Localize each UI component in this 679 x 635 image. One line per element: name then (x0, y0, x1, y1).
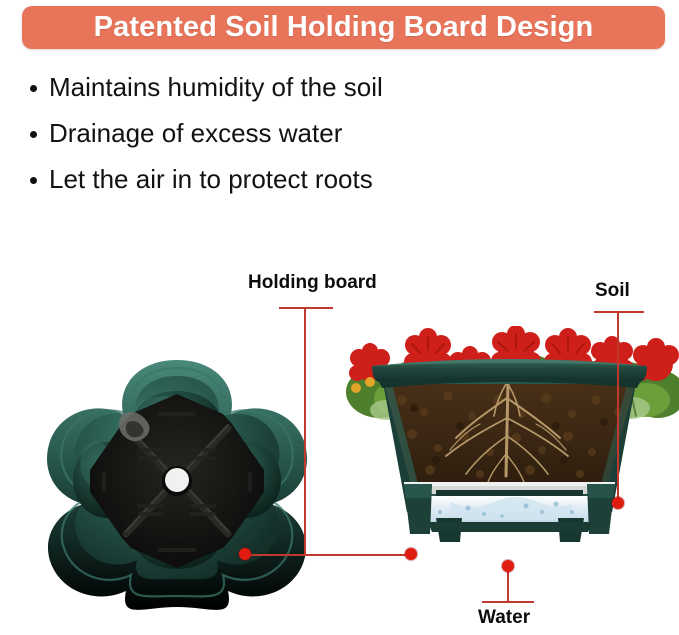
holding-board-anchor-dot-left (239, 548, 251, 560)
soil-leader-stem (617, 311, 619, 503)
infographic-canvas: Patented Soil Holding Board Design Maint… (0, 0, 679, 635)
list-item-label: Let the air in to protect roots (49, 164, 373, 194)
list-item: Let the air in to protect roots (30, 164, 590, 194)
bullet-dot-icon (30, 131, 37, 138)
list-item-label: Maintains humidity of the soil (49, 72, 383, 102)
holding-board-anchor-dot-right (405, 548, 417, 560)
soil-leader-cap (594, 311, 644, 313)
list-item: Drainage of excess water (30, 118, 590, 148)
bullet-dot-icon (30, 177, 37, 184)
callout-label-water: Water (478, 608, 530, 627)
bullet-dot-icon (30, 85, 37, 92)
holding-board-leader-rail (245, 554, 413, 556)
list-item-label: Drainage of excess water (49, 118, 342, 148)
header-banner: Patented Soil Holding Board Design (22, 6, 665, 49)
callout-label-soil: Soil (595, 281, 630, 300)
list-item: Maintains humidity of the soil (30, 72, 590, 102)
callout-label-holding-board: Holding board (248, 273, 377, 292)
holding-board-leader-stem (304, 307, 306, 555)
clover-planter-top-view (18, 352, 336, 612)
feature-list: Maintains humidity of the soil Drainage … (30, 72, 590, 210)
drain-hole-icon (162, 466, 192, 496)
soil-anchor-dot (612, 497, 624, 509)
page-title: Patented Soil Holding Board Design (94, 13, 594, 42)
water-anchor-dot (502, 560, 514, 572)
holding-board-leader-cap (279, 307, 333, 309)
clover-planter-illustration (18, 352, 336, 612)
